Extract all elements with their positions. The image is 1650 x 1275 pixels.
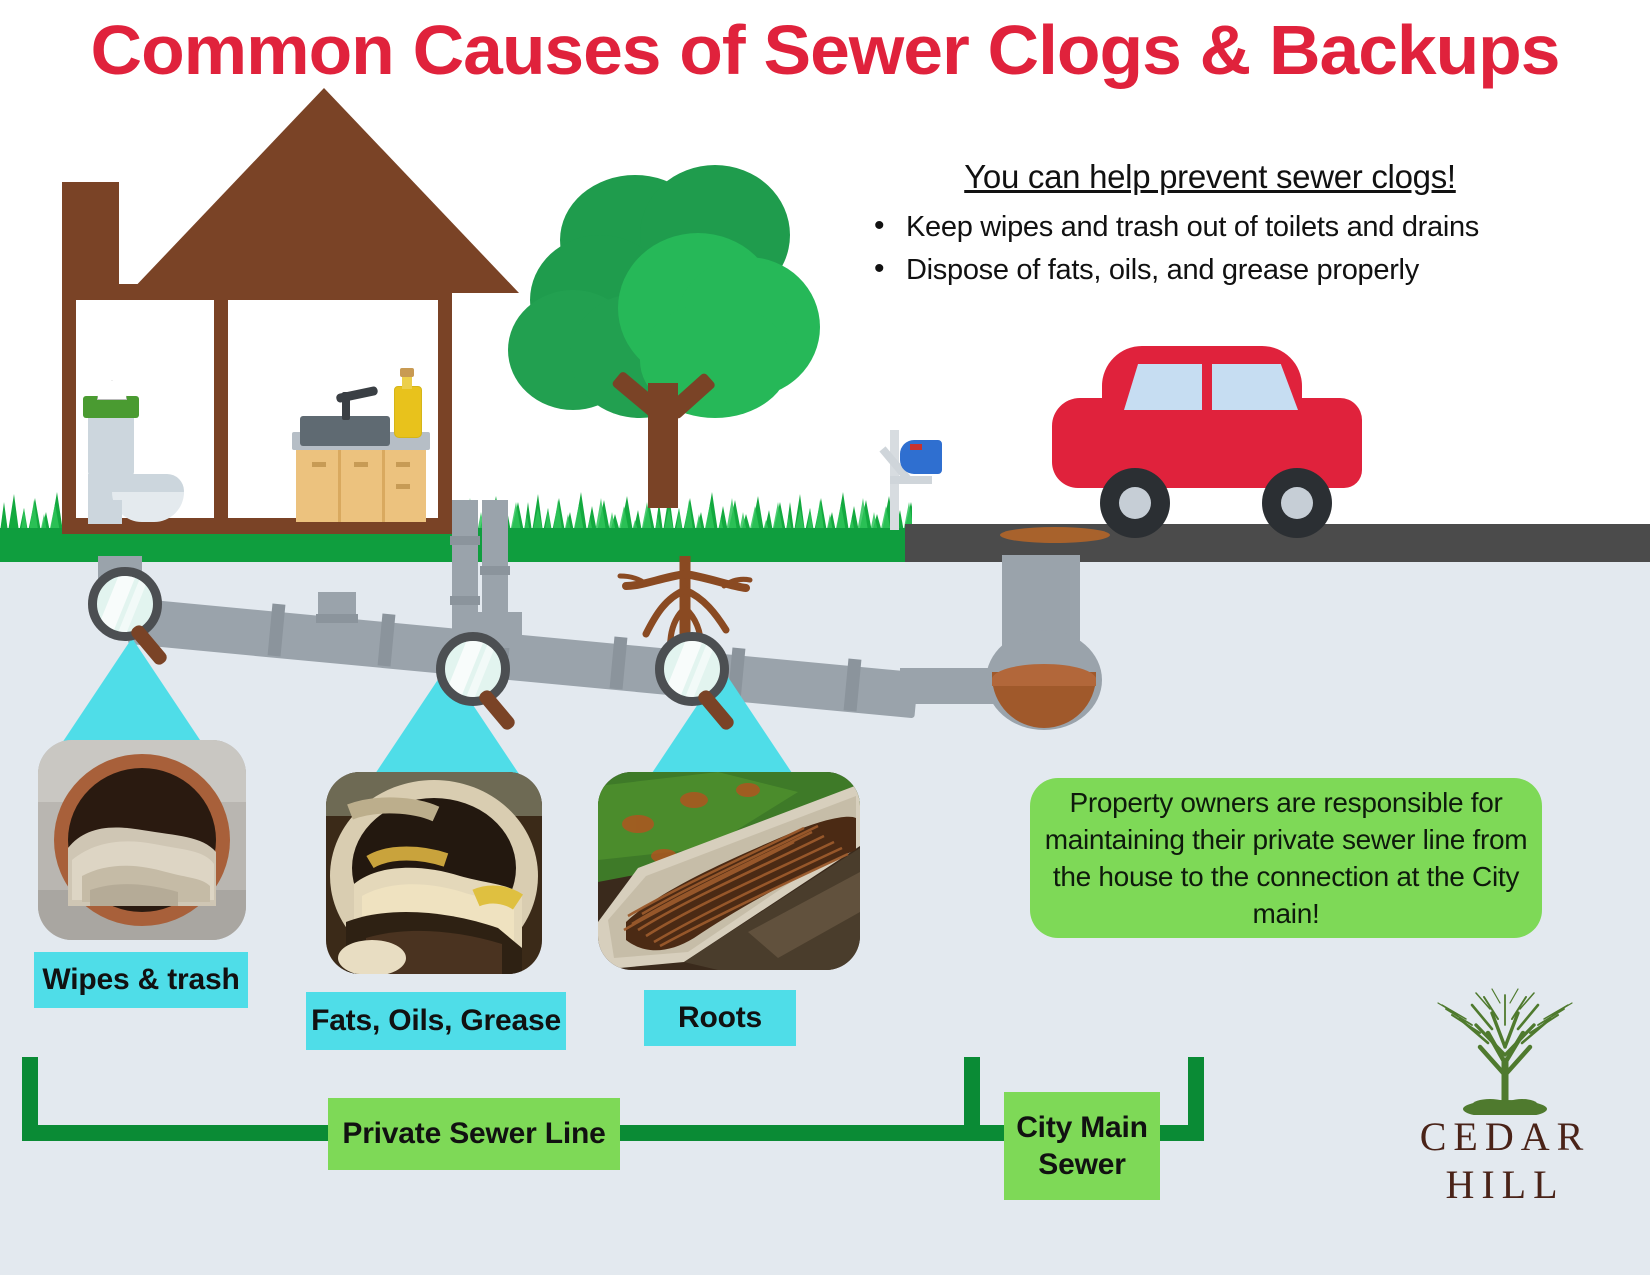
label-private-sewer-line: Private Sewer Line [328, 1098, 620, 1170]
tips-heading: You can help prevent sewer clogs! [860, 158, 1560, 196]
house-right-wall [438, 284, 452, 534]
roof [129, 88, 519, 293]
label-city-main-sewer: City Main Sewer [1004, 1092, 1160, 1200]
infographic-canvas: Common Causes of Sewer Clogs & Backups Y… [0, 0, 1650, 1275]
cedar-hill-logo: CEDAR HILL [1380, 985, 1630, 1255]
oil-bottle-cap [400, 368, 414, 377]
cabinet-handle-3 [396, 462, 410, 467]
pipe-riser-left [452, 500, 478, 630]
label-roots: Roots [644, 990, 796, 1046]
mailbox-arm [890, 476, 932, 484]
photo-wipes-trash [38, 740, 246, 940]
sink-basin [300, 416, 390, 446]
kitchen-sink-icon [292, 380, 430, 525]
zoom-cone-wipes [60, 638, 204, 746]
cabinet-divider-2 [382, 450, 385, 522]
toilet-base [88, 500, 122, 524]
cabinet-handle-2 [354, 462, 368, 467]
toilet-tank [88, 414, 134, 476]
oil-bottle-neck [402, 375, 412, 389]
magnifying-glass-icon[interactable] [655, 632, 729, 706]
tip-item-fog: Dispose of fats, oils, and grease proper… [860, 249, 1560, 292]
pipe-joint [480, 566, 510, 575]
city-main-line2: Sewer [1038, 1146, 1125, 1184]
city-main-line1: City Main [1016, 1109, 1148, 1147]
house-left-wall [62, 284, 76, 534]
wheel-hub [1281, 487, 1313, 519]
magnifying-glass-icon[interactable] [436, 632, 510, 706]
house-cutaway [62, 88, 452, 534]
logo-text-cedar: CEDAR [1380, 1113, 1630, 1160]
label-fats-oils-grease: Fats, Oils, Grease [306, 992, 566, 1050]
tree-illustration [500, 165, 840, 535]
tip-item-wipes: Keep wipes and trash out of toilets and … [860, 206, 1560, 249]
cooking-oil-bottle-icon [394, 386, 422, 438]
cabinet-handle-1 [312, 462, 326, 467]
bracket-right-tick [1188, 1057, 1204, 1141]
interior-wall [214, 300, 228, 522]
tree-trunk [648, 383, 678, 508]
magnifying-glass-icon[interactable] [88, 567, 162, 641]
pipe-joint [316, 614, 358, 623]
cabinet-divider-1 [338, 450, 341, 522]
mailbox-flag [910, 444, 922, 450]
tree-icon [1380, 985, 1630, 1115]
car-tire [1262, 468, 1332, 538]
toilet-icon [82, 388, 192, 524]
page-title: Common Causes of Sewer Clogs & Backups [0, 10, 1650, 90]
wheel-hub [1119, 487, 1151, 519]
photo-fats-oils-grease [326, 772, 542, 974]
responsibility-callout: Property owners are responsible for main… [1030, 778, 1542, 938]
pipe-joint [450, 536, 480, 545]
logo-text-hill: HILL [1380, 1161, 1630, 1208]
toilet-bowl-inner [112, 492, 184, 522]
pipe-joint [450, 596, 480, 605]
prevention-tips: You can help prevent sewer clogs! Keep w… [860, 158, 1560, 291]
mailbox-icon [880, 418, 942, 530]
car-icon [1052, 340, 1382, 530]
faucet-arm [336, 386, 379, 404]
pipe-riser-right [482, 500, 508, 630]
cabinet-handle-4 [396, 484, 410, 489]
car-tire [1100, 468, 1170, 538]
label-wipes-trash: Wipes & trash [34, 952, 248, 1008]
photo-roots [598, 772, 860, 970]
